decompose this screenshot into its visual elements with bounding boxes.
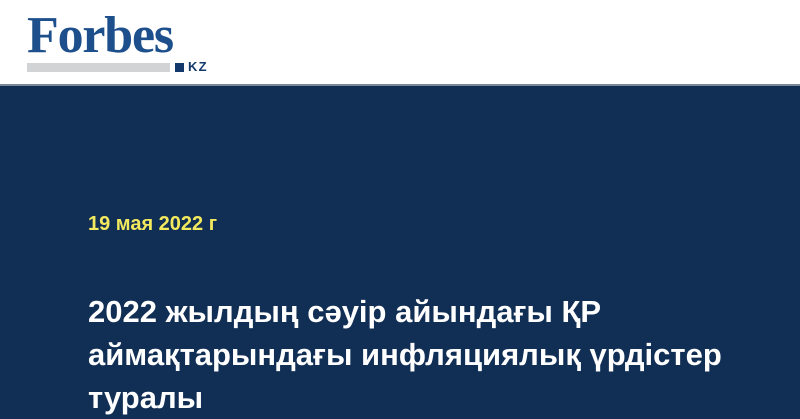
hero-panel: 19 мая 2022 г 2022 жылдың сәуір айындағы… xyxy=(0,86,800,419)
square-mark-icon xyxy=(175,63,184,72)
publication-date: 19 мая 2022 г xyxy=(88,212,217,236)
article-card: Forbes KZ 19 мая 2022 г 2022 жылдың сәуі… xyxy=(0,0,800,419)
logo-rule xyxy=(27,63,170,72)
site-header: Forbes KZ xyxy=(0,0,800,86)
logo-kz-suffix: KZ xyxy=(188,60,208,73)
forbes-kz-logo[interactable]: Forbes KZ xyxy=(27,10,227,76)
page-title: 2022 жылдың сәуір айындағы ҚР аймақтарын… xyxy=(88,290,728,419)
logo-wordmark: Forbes xyxy=(27,10,173,62)
